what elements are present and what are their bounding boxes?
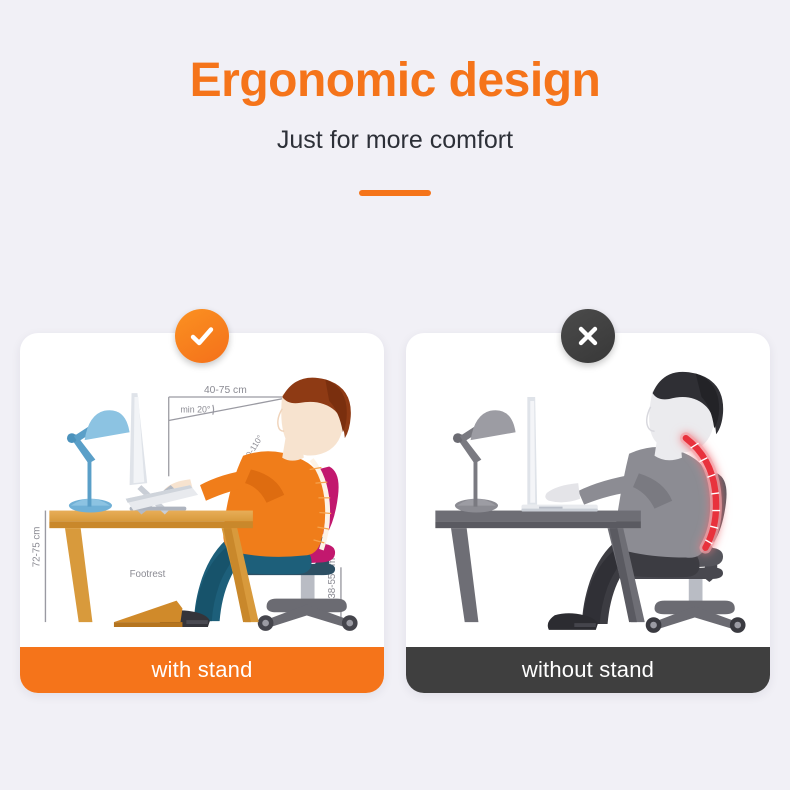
- desk-lamp: [453, 410, 516, 512]
- card-label-without-stand: without stand: [406, 647, 770, 693]
- card-without-stand[interactable]: without stand: [406, 333, 770, 693]
- cross-icon: [572, 320, 604, 352]
- page-subtitle: Just for more comfort: [0, 106, 790, 155]
- divider-wrap: [0, 155, 790, 201]
- desk-height-label: 72-75 cm: [32, 527, 43, 568]
- comparison-cards: 40-75 cm min 20° 90-110° 72-75 cm 38-55 …: [20, 333, 770, 693]
- check-badge: [175, 309, 229, 363]
- viewing-distance-label: 40-75 cm: [204, 385, 247, 396]
- desk-lamp: [67, 410, 130, 512]
- card-with-stand[interactable]: 40-75 cm min 20° 90-110° 72-75 cm 38-55 …: [20, 333, 384, 693]
- page-root: Ergonomic design Just for more comfort: [0, 0, 790, 790]
- illustration-with-stand: 40-75 cm min 20° 90-110° 72-75 cm 38-55 …: [20, 333, 384, 647]
- header: Ergonomic design Just for more comfort: [0, 0, 790, 201]
- illustration-without-stand: [406, 333, 770, 647]
- card-label-with-stand: with stand: [20, 647, 384, 693]
- accent-divider: [359, 190, 431, 196]
- footrest-label: Footrest: [130, 569, 166, 580]
- cross-badge: [561, 309, 615, 363]
- viewing-angle-label: min 20°: [180, 405, 210, 415]
- page-title: Ergonomic design: [0, 0, 790, 106]
- footrest: [114, 601, 182, 627]
- check-icon: [186, 320, 218, 352]
- person-good-posture: [160, 378, 351, 627]
